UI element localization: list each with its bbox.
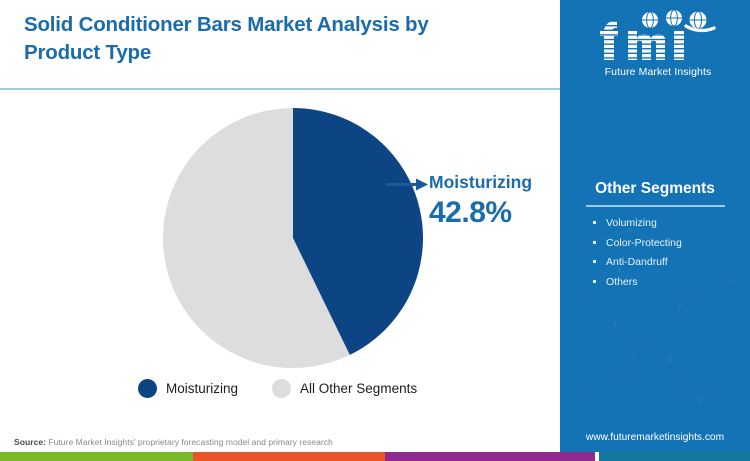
legend-item-moisturizing: Moisturizing [138,379,238,398]
logo-tagline: Future Market Insights [588,66,728,78]
list-item-label: Color-Protecting [606,237,682,249]
legend-swatch-icon [272,379,291,398]
other-segments-divider [586,205,725,207]
list-item: Color-Protecting [592,236,742,250]
website-url[interactable]: www.futuremarketinsights.com [560,432,750,443]
pie-chart-svg [163,108,423,368]
legend-label: All Other Segments [300,381,417,396]
list-item-label: Anti-Dandruff [606,256,668,268]
infographic-page: Solid Conditioner Bars Market Analysis b… [0,0,750,461]
source-note: Source: Future Market Insights' propriet… [14,437,333,447]
callout-value: 42.8% [429,196,512,230]
fmi-wordmark-icon [588,8,728,70]
pie-chart [163,108,423,368]
other-segments-list: Volumizing Color-Protecting Anti-Dandruf… [592,216,742,294]
brand-sidebar: Future Market Insights Other Segments Vo… [560,0,750,461]
main-content-area: Solid Conditioner Bars Market Analysis b… [0,0,560,461]
arrow-right-icon [386,178,428,191]
fmi-logo: Future Market Insights [588,8,728,86]
bullet-icon [593,241,596,244]
color-bar-green [0,452,193,461]
legend-label: Moisturizing [166,381,238,396]
bullet-icon [593,260,596,263]
source-prefix: Source: [14,437,46,447]
color-bar-purple [385,452,595,461]
title-divider [0,88,560,90]
other-segments-heading: Other Segments [560,180,750,198]
color-bar-orange [193,452,385,461]
list-item-label: Others [606,276,638,288]
bullet-icon [593,280,596,283]
chart-legend: Moisturizing All Other Segments [138,379,417,398]
list-item-label: Volumizing [606,217,657,229]
page-title: Solid Conditioner Bars Market Analysis b… [24,11,494,67]
callout-label: Moisturizing [429,172,532,193]
legend-item-all-other-segments: All Other Segments [272,379,417,398]
color-bar-teal [599,452,750,461]
bullet-icon [593,221,596,224]
bottom-color-bar [0,452,750,461]
list-item: Others [592,275,742,289]
list-item: Volumizing [592,216,742,230]
list-item: Anti-Dandruff [592,255,742,269]
source-text: Future Market Insights' proprietary fore… [46,437,333,447]
legend-swatch-icon [138,379,157,398]
